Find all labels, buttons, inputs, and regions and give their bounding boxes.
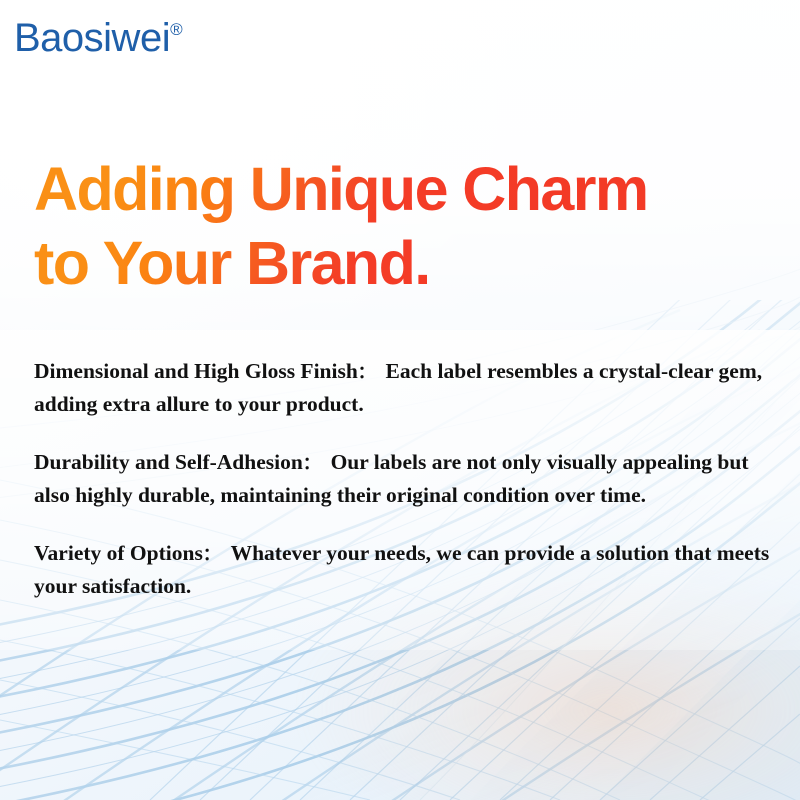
headline-line-2: to Your Brand.: [34, 226, 754, 300]
feature-separator: ：: [358, 363, 375, 383]
marketing-banner: Baosiwei® Adding Unique Charm to Your Br…: [0, 0, 800, 800]
feature-separator: ：: [203, 545, 220, 565]
feature-title: Durability and Self-Adhesion: [34, 450, 303, 474]
feature-title: Variety of Options: [34, 541, 203, 565]
feature-title: Dimensional and High Gloss Finish: [34, 359, 358, 383]
headline: Adding Unique Charm to Your Brand.: [34, 152, 754, 301]
feature-list: Dimensional and High Gloss Finish： Each …: [34, 356, 770, 602]
banner-content: Baosiwei® Adding Unique Charm to Your Br…: [0, 0, 800, 800]
registered-trademark-icon: ®: [170, 20, 182, 39]
feature-item: Durability and Self-Adhesion： Our labels…: [34, 447, 770, 511]
feature-item: Dimensional and High Gloss Finish： Each …: [34, 356, 770, 420]
headline-line-1: Adding Unique Charm: [34, 152, 754, 226]
brand-logo-text: Baosiwei: [14, 16, 170, 60]
feature-separator: ：: [303, 454, 320, 474]
brand-logo: Baosiwei®: [14, 18, 182, 58]
feature-item: Variety of Options： Whatever your needs,…: [34, 538, 770, 602]
